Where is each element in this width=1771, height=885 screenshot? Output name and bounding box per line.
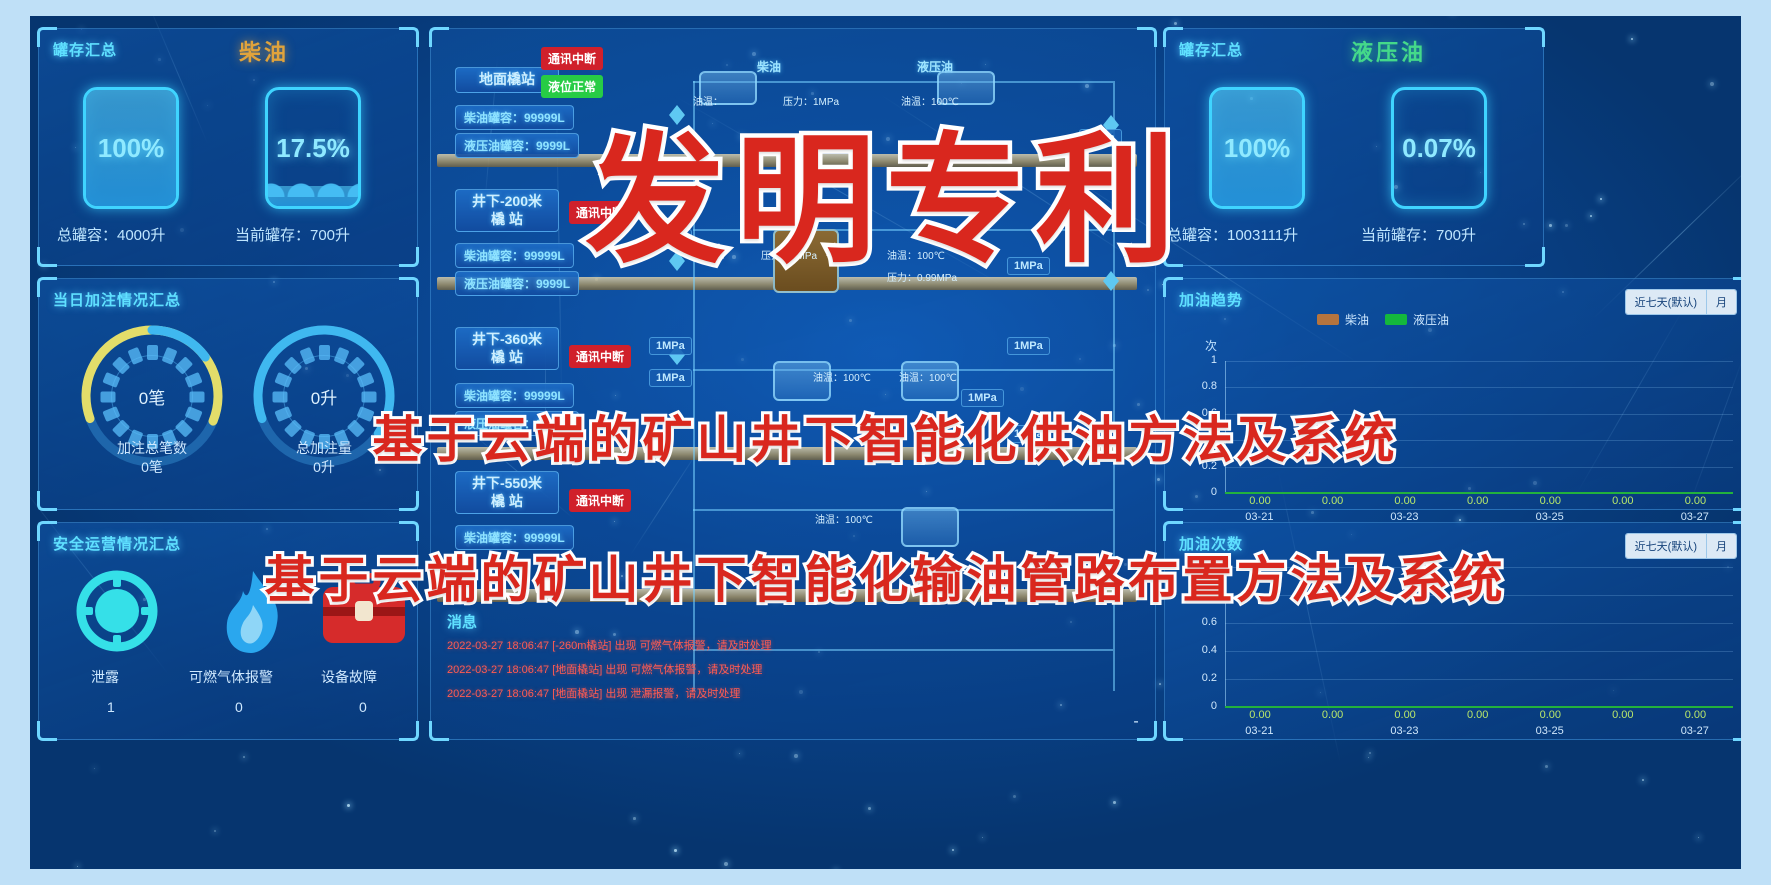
panel-title: 罐存汇总 xyxy=(1179,39,1243,60)
star-dot xyxy=(1459,519,1461,521)
star-dot xyxy=(77,866,78,867)
chart-y-tick: 1 xyxy=(1191,354,1217,366)
safety-value: 1 xyxy=(107,699,115,715)
panel-title: 安全运营情况汇总 xyxy=(53,533,181,554)
chart-point-label: 0.00 xyxy=(1249,495,1270,507)
star-dot xyxy=(1549,224,1552,227)
star-dot xyxy=(1642,779,1644,781)
pressure-tag: 1MPa xyxy=(649,337,692,355)
chart-point-label: 0.00 xyxy=(1540,495,1561,507)
station-hydraulic-capacity: 液压油罐容：9999L xyxy=(455,133,579,158)
legend-label: 柴油 xyxy=(1345,311,1369,328)
range-button-week[interactable]: 近七天(默认) xyxy=(1626,534,1706,558)
message-line: 2022-03-27 18:06:47 [地面橇站] 出现 可燃气体报警，请及时… xyxy=(447,661,762,677)
star-dot xyxy=(347,804,350,807)
dashboard-screen: 罐存汇总 柴油 100% 总罐容：4000升 17.5% 当前罐存：700升 当… xyxy=(0,0,1771,885)
star-dot xyxy=(1369,752,1371,754)
gauge-caption: 总罐容：4000升 xyxy=(57,224,165,245)
chart-point-label: 0.00 xyxy=(1394,709,1415,721)
range-button-week[interactable]: 近七天(默认) xyxy=(1626,290,1706,314)
pressure-tag: 1MPa xyxy=(1007,337,1050,355)
legend-item-hydraulic[interactable]: 液压油 xyxy=(1385,311,1449,328)
station-diesel-capacity: 柴油罐容：99999L xyxy=(455,105,574,130)
message-line: 2022-03-27 18:06:47 [-260m橇站] 出现 可燃气体报警，… xyxy=(447,637,772,653)
gauge-caption: 当前罐存：700升 xyxy=(1361,224,1476,245)
donut-caption: 加注总笔数 0笔 xyxy=(67,439,237,477)
legend-label: 液压油 xyxy=(1413,311,1449,328)
star-dot xyxy=(674,849,677,852)
chart-y-tick: 0.2 xyxy=(1191,672,1217,684)
station-diesel-capacity: 柴油罐容：99999L xyxy=(455,243,574,268)
panel-hydraulic-tank-summary: 罐存汇总 液压油 100% 总罐容：1003111升 0.07% 当前罐存：70… xyxy=(1164,28,1544,266)
gauge-percent: 17.5% xyxy=(268,90,358,206)
chart-y-tick: 0 xyxy=(1191,700,1217,712)
panel-daily-refuel-summary: 当日加注情况汇总 0笔 加注总笔数 0笔 0升 总加注量 xyxy=(38,278,418,510)
chart-point-label: 0.00 xyxy=(1394,495,1415,507)
star-dot xyxy=(1698,837,1699,838)
chart-series-line xyxy=(1225,706,1733,708)
watermark-line-2: 基于云端的矿山井下智能化输油管路布置方法及系统 xyxy=(265,540,1507,612)
chart-point-label: 0.00 xyxy=(1322,709,1343,721)
message-panel-title: 消息 xyxy=(447,611,477,632)
zoom-out-button[interactable]: - xyxy=(1127,713,1145,731)
vessel-temp: 油温：100℃ xyxy=(815,511,873,526)
station-status-badge: 通讯中断 xyxy=(569,489,631,512)
station-status-badge: 通讯中断 xyxy=(541,47,603,70)
station-label-minus200[interactable]: 井下-200米 橇 站 xyxy=(455,189,559,232)
panel-title: 罐存汇总 xyxy=(53,39,117,60)
oil-type-label: 柴油 xyxy=(239,35,289,67)
frame-border-right xyxy=(1741,0,1771,885)
panel-title: 加油趋势 xyxy=(1179,289,1243,310)
chart-legend: 柴油 液压油 xyxy=(1317,311,1449,328)
star-dot xyxy=(868,807,871,810)
gauge-percent: 100% xyxy=(1212,90,1302,206)
star-dot xyxy=(1565,224,1568,227)
gauge-current-stock: 0.07% xyxy=(1391,87,1487,209)
message-line: 2022-03-27 18:06:47 [地面橇站] 出现 泄漏报警，请及时处理 xyxy=(447,685,740,701)
star-dot xyxy=(739,753,740,754)
star-dot xyxy=(1159,683,1161,685)
star-dot xyxy=(1710,82,1714,86)
safety-label: 泄露 xyxy=(91,667,119,687)
chart-range-buttons[interactable]: 近七天(默认) 月 xyxy=(1625,289,1737,315)
star-dot xyxy=(1113,801,1116,804)
chart-y-unit: 次 xyxy=(1205,337,1217,354)
pressure-tag: 1MPa xyxy=(649,369,692,387)
chart-y-tick: 0.6 xyxy=(1191,616,1217,628)
star-dot xyxy=(1600,198,1602,200)
star-dot xyxy=(952,849,954,851)
star-dot xyxy=(724,862,728,866)
chart-x-tick: 03-23 xyxy=(1390,725,1418,737)
star-dot xyxy=(94,768,95,769)
chart-point-label: 0.00 xyxy=(1467,495,1488,507)
vessel-temp: 油温：100℃ xyxy=(899,369,957,384)
star-dot xyxy=(1545,765,1548,768)
chart-point-label: 0.00 xyxy=(1685,709,1706,721)
star-dot xyxy=(1368,757,1369,758)
chart-point-label: 0.00 xyxy=(1612,495,1633,507)
oil-type-label: 液压油 xyxy=(1351,35,1426,67)
gauge-caption: 总罐容：1003111升 xyxy=(1167,224,1298,245)
safety-label: 可燃气体报警 xyxy=(189,667,273,687)
vessel-temp: 油温：100℃ xyxy=(813,369,871,384)
safety-value: 0 xyxy=(235,699,243,715)
chart-point-label: 0.00 xyxy=(1322,495,1343,507)
chart-gridline xyxy=(1225,623,1733,624)
star-dot xyxy=(214,830,216,832)
chart-gridline xyxy=(1225,387,1733,388)
range-button-month[interactable]: 月 xyxy=(1706,534,1736,558)
range-button-month[interactable]: 月 xyxy=(1706,290,1736,314)
donut-caption-label: 加注总笔数 xyxy=(67,439,237,458)
frame-border-bottom xyxy=(0,869,1771,885)
chart-point-label: 0.00 xyxy=(1540,709,1561,721)
safety-label: 设备故障 xyxy=(321,667,377,687)
gauge-percent: 0.07% xyxy=(1394,90,1484,206)
star-dot xyxy=(982,837,983,838)
station-hydraulic-capacity: 液压油罐容：9999L xyxy=(455,271,579,296)
gas-leak-icon xyxy=(75,569,159,658)
chart-series-line xyxy=(1225,492,1733,494)
gauge-total-capacity: 100% xyxy=(83,87,179,209)
star-dot xyxy=(1590,215,1592,217)
chart-point-label: 0.00 xyxy=(1685,495,1706,507)
watermark-line-1: 基于云端的矿山井下智能化供油方法及系统 xyxy=(373,400,1399,472)
watermark-patent: 发明专利 xyxy=(585,88,1185,290)
star-dot xyxy=(1311,511,1314,514)
star-dot xyxy=(633,817,636,820)
panel-diesel-tank-summary: 罐存汇总 柴油 100% 总罐容：4000升 17.5% 当前罐存：700升 xyxy=(38,28,418,266)
star-dot xyxy=(1174,22,1177,25)
star-dot xyxy=(794,754,798,758)
chart-point-label: 0.00 xyxy=(1467,709,1488,721)
donut-caption-value: 0笔 xyxy=(67,458,237,477)
chart-gridline xyxy=(1225,361,1733,362)
star-dot xyxy=(1631,38,1633,40)
frame-border-left xyxy=(0,0,30,885)
gauge-percent: 100% xyxy=(86,90,176,206)
chart-y-tick: 0 xyxy=(1191,486,1217,498)
star-dot xyxy=(243,756,245,758)
chart-point-label: 0.00 xyxy=(1612,709,1633,721)
star-dot xyxy=(1013,795,1016,798)
legend-swatch-icon xyxy=(1317,314,1339,325)
chart-x-tick: 03-21 xyxy=(1245,725,1273,737)
legend-swatch-icon xyxy=(1385,314,1407,325)
legend-item-diesel[interactable]: 柴油 xyxy=(1317,311,1369,328)
frame-border-top xyxy=(0,0,1771,16)
gauge-total-capacity: 100% xyxy=(1209,87,1305,209)
panel-title: 当日加注情况汇总 xyxy=(53,289,181,310)
star-dot xyxy=(1157,478,1160,481)
station-status-badge: 通讯中断 xyxy=(569,345,631,368)
station-label-minus360[interactable]: 井下-360米 橇 站 xyxy=(455,327,559,370)
chart-range-buttons[interactable]: 近七天(默认) 月 xyxy=(1625,533,1737,559)
chart-y-tick: 0.4 xyxy=(1191,644,1217,656)
chart-x-tick: 03-25 xyxy=(1536,725,1564,737)
panel-refuel-trend-chart: 加油趋势 近七天(默认) 月 柴油 液压油 次 00.20.40.60.810.… xyxy=(1164,278,1752,510)
chart-y-tick: 0.8 xyxy=(1191,380,1217,392)
safety-value: 0 xyxy=(359,699,367,715)
chart-gridline xyxy=(1225,651,1733,652)
chart-gridline xyxy=(1225,679,1733,680)
chart-x-tick: 03-27 xyxy=(1681,725,1709,737)
gauge-caption: 当前罐存：700升 xyxy=(235,224,350,245)
chart-point-label: 0.00 xyxy=(1249,709,1270,721)
gauge-current-stock: 17.5% xyxy=(265,87,361,209)
station-label-minus550[interactable]: 井下-550米 橇 站 xyxy=(455,471,559,514)
